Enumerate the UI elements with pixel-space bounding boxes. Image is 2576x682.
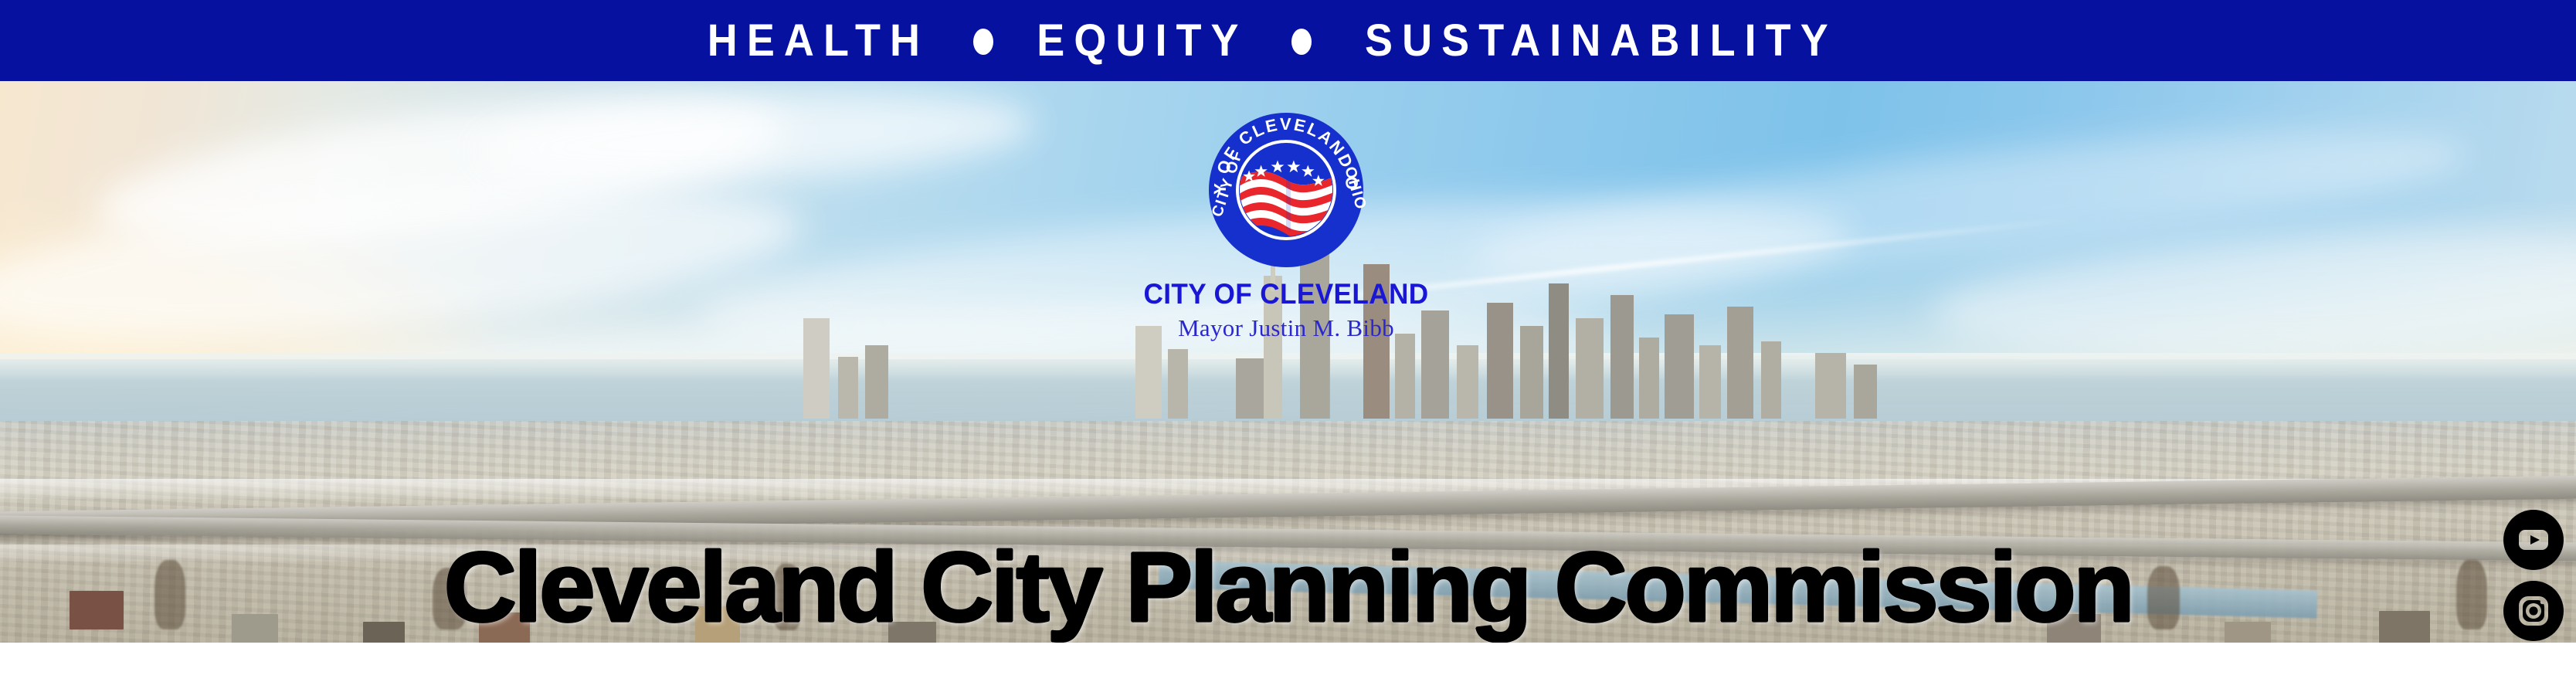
- city-lockup: CITY OF CLEVELAND OHIO CITY OF OHIO CITY…: [1116, 108, 1456, 363]
- instagram-icon[interactable]: [2503, 581, 2564, 641]
- footer-whitespace: [0, 643, 2576, 682]
- tagline-word-equity: EQUITY: [1037, 19, 1247, 63]
- social-links: [2503, 510, 2564, 643]
- tagline-bar: HEALTH EQUITY SUSTAINABILITY: [0, 0, 2576, 81]
- tagline-word-sustainability: SUSTAINABILITY: [1365, 19, 1838, 63]
- tagline-word-health: HEALTH: [708, 19, 929, 63]
- tagline-separator-dot-2: [1291, 29, 1312, 55]
- city-name-label: CITY OF CLEVELAND: [1125, 278, 1448, 310]
- page-title: Cleveland City Planning Commission: [0, 538, 2576, 637]
- youtube-link[interactable]: [2503, 510, 2564, 570]
- city-of-cleveland-seal-icon: CITY OF CLEVELAND OHIO CITY OF OHIO: [1204, 108, 1368, 272]
- tagline-inner: HEALTH EQUITY SUSTAINABILITY: [699, 19, 1855, 63]
- youtube-icon[interactable]: [2503, 510, 2564, 570]
- tagline-separator-dot-1: [973, 29, 993, 55]
- instagram-link[interactable]: [2503, 581, 2564, 641]
- mayor-name-label: Mayor Justin M. Bibb: [1116, 314, 1456, 342]
- hero-photo: CITY OF CLEVELAND OHIO CITY OF OHIO CITY…: [0, 81, 2576, 643]
